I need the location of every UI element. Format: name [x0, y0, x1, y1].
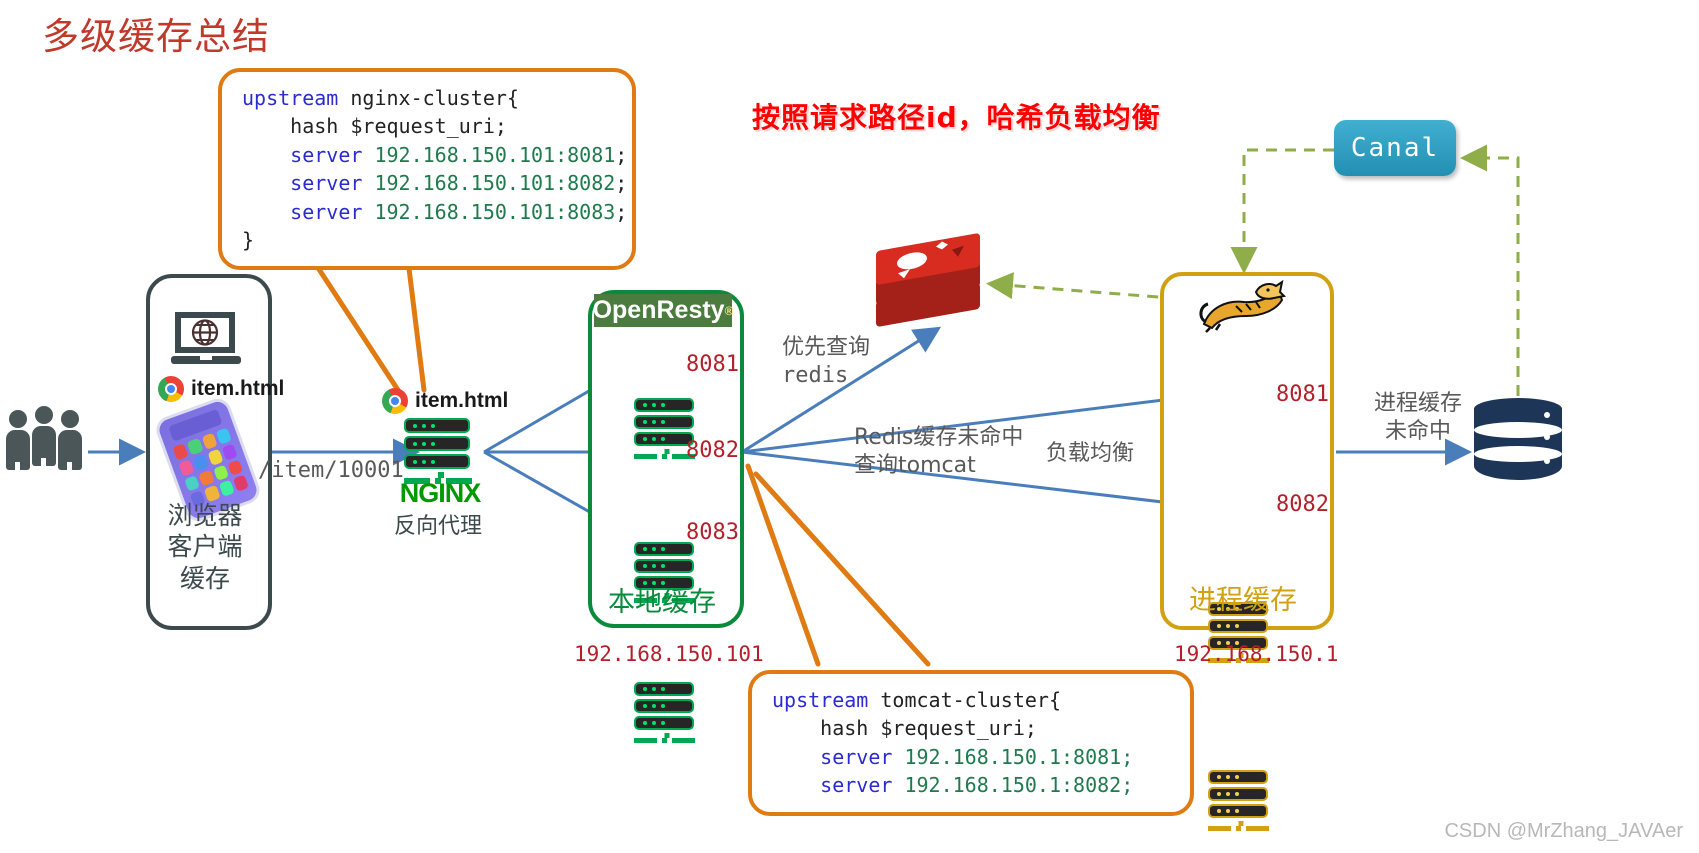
page-title: 多级缓存总结 — [42, 6, 270, 60]
laptop-icon — [171, 312, 241, 368]
code-cluster-name: tomcat-cluster{ — [868, 688, 1061, 712]
client-cache-label: 浏览器 客户端 缓存 — [146, 500, 264, 594]
code-server-kw-3: server — [242, 200, 362, 224]
load-balance-label: 负载均衡 — [1046, 440, 1134, 468]
process-miss-line1: 进程缓存 — [1366, 390, 1470, 418]
openresty-ip-label: 192.168.150.101 — [574, 642, 764, 666]
redis-logo-icon — [876, 236, 980, 322]
openresty-port-label-8081: 8081 — [686, 352, 739, 377]
hash-balance-annotation: 按照请求路径id，哈希负载均衡 — [752, 96, 1161, 136]
tomcat-server-icon-8082 — [1208, 770, 1274, 828]
openresty-local-cache-label: 本地缓存 — [588, 580, 736, 619]
tomcat-ip-label: 192.168.150.1 — [1174, 642, 1338, 666]
request-path-label: /item/10001 — [258, 458, 404, 483]
tomcat-process-cache-label: 进程缓存 — [1160, 578, 1326, 617]
nginx-server-stack-icon — [404, 418, 478, 480]
csdn-watermark: CSDN @MrZhang_JAVAer — [1444, 820, 1683, 843]
code-server-kw-1: server — [242, 143, 362, 167]
code-server-val-2: 192.168.150.1:8082 — [892, 773, 1121, 797]
openresty-port-label-8083: 8083 — [686, 520, 739, 545]
diagram-canvas: 多级缓存总结 upstream nginx-cluster{ hash $req… — [0, 0, 1699, 853]
canal-label: Canal — [1351, 133, 1439, 163]
code-keyword-upstream: upstream — [772, 688, 868, 712]
chrome-browser-icon — [382, 388, 408, 414]
code-keyword-upstream: upstream — [242, 86, 338, 110]
redis-miss-line2: 查询tomcat — [854, 452, 1023, 480]
code-hash-line: hash $request_uri; — [772, 716, 1037, 740]
redis-miss-line1: Redis缓存未命中 — [854, 424, 1023, 452]
client-label-line2: 客户端 — [146, 531, 264, 562]
client-label-line3: 缓存 — [146, 563, 264, 594]
code-server-val-1: 192.168.150.1:8081 — [892, 745, 1121, 769]
openresty-brand-banner: OpenResty® — [594, 294, 732, 327]
tomcat-port-label-8082: 8082 — [1276, 492, 1329, 517]
tomcat-port-label-8081: 8081 — [1276, 382, 1329, 407]
redis-first-line1: 优先查询 — [782, 334, 870, 362]
code-close-brace: } — [242, 228, 254, 252]
chrome-browser-icon — [158, 376, 184, 402]
redis-miss-label: Redis缓存未命中 查询tomcat — [854, 424, 1023, 479]
process-cache-miss-label: 进程缓存 未命中 — [1366, 390, 1470, 445]
code-hash-line: hash $request_uri; — [242, 114, 507, 138]
openresty-port-label-8082: 8082 — [686, 438, 739, 463]
code-server-kw-2: server — [772, 773, 892, 797]
tomcat-cat-icon — [1196, 278, 1288, 334]
redis-first-query-label: 优先查询 redis — [782, 334, 870, 389]
code-server-kw-2: server — [242, 171, 362, 195]
nginx-role-label: 反向代理 — [378, 508, 498, 540]
nginx-upstream-callout: upstream nginx-cluster{ hash $request_ur… — [218, 68, 636, 270]
nginx-item-html-label: item.html — [415, 389, 508, 413]
users-group-icon — [6, 398, 86, 468]
openresty-server-icon-8083 — [634, 682, 700, 740]
client-label-line1: 浏览器 — [146, 500, 264, 531]
code-server-val-3: 192.168.150.101:8083 — [362, 200, 615, 224]
trademark-icon: ® — [725, 304, 734, 318]
code-server-kw-1: server — [772, 745, 892, 769]
database-cylinder-icon — [1474, 398, 1562, 490]
client-item-html-row: item.html — [158, 376, 284, 402]
process-miss-line2: 未命中 — [1366, 418, 1470, 446]
code-server-val-1: 192.168.150.101:8081 — [362, 143, 615, 167]
redis-first-line2: redis — [782, 362, 870, 390]
nginx-item-html-row: item.html — [382, 388, 508, 414]
code-server-val-2: 192.168.150.101:8082 — [362, 171, 615, 195]
code-cluster-name: nginx-cluster{ — [338, 86, 519, 110]
openresty-brand-label: OpenResty — [593, 296, 725, 325]
client-item-html-label: item.html — [191, 377, 284, 401]
tomcat-upstream-callout: upstream tomcat-cluster{ hash $request_u… — [748, 670, 1194, 816]
canal-node[interactable]: Canal — [1334, 120, 1456, 176]
